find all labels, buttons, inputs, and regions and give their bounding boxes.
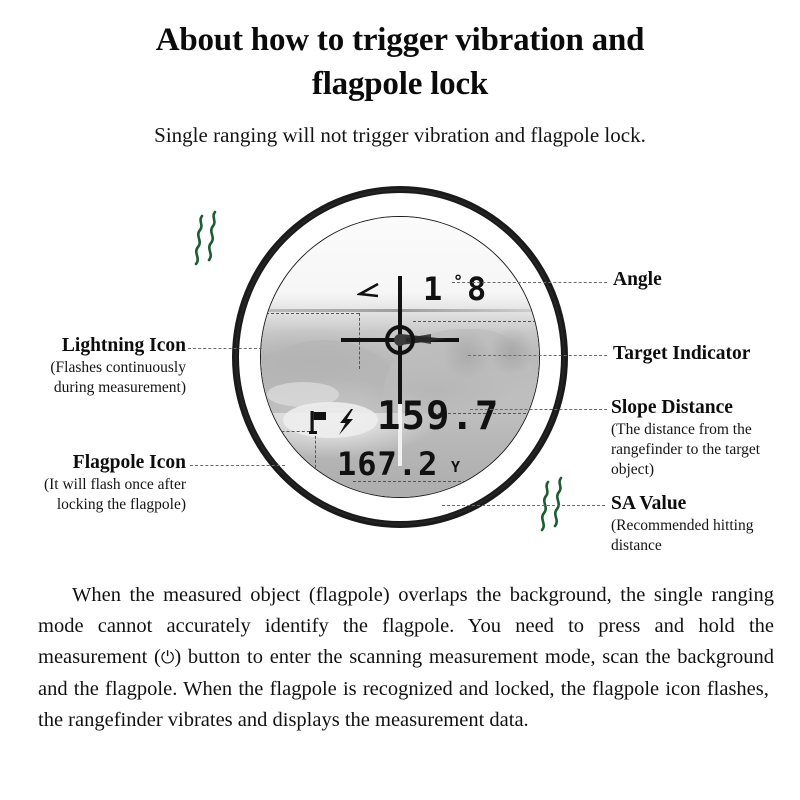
- callout-angle: Angle: [613, 268, 798, 292]
- sa-value-unit: Y: [451, 458, 460, 476]
- leader-line-lightning: [188, 348, 262, 349]
- callout-angle-title: Angle: [613, 268, 798, 292]
- crosshair-center-dot: [394, 334, 406, 346]
- angle-value-tail: 8: [467, 270, 487, 308]
- callout-target-indicator: Target Indicator: [613, 342, 798, 366]
- callout-slope-distance: Slope Distance (The distance from the ra…: [611, 396, 800, 480]
- leader-line-sa-value: [442, 505, 605, 506]
- page-title-line-2: flagpole lock: [0, 62, 800, 106]
- callout-sa-value-sub-1: (Recommended hitting: [611, 516, 800, 536]
- callout-sa-value-sub-2: distance: [611, 536, 800, 556]
- callout-lightning-sub-2: during measurement): [0, 378, 186, 398]
- page-subtitle: Single ranging will not trigger vibratio…: [0, 123, 800, 148]
- callout-sa-value: SA Value (Recommended hitting distance: [611, 492, 800, 556]
- leader-line-target-indicator: [468, 355, 607, 356]
- vibration-waves-upper-left: [182, 208, 244, 270]
- angle-readout: 1 ° 8: [357, 273, 537, 307]
- flagpole-icon: [309, 410, 331, 434]
- callout-lightning-icon: Lightning Icon (Flashes continuously dur…: [0, 334, 186, 398]
- leader-line-flagpole: [190, 465, 285, 466]
- callout-slope-distance-title: Slope Distance: [611, 396, 800, 420]
- target-indicator-crosshair-icon: [341, 310, 459, 370]
- power-button-icon: ⏻: [161, 648, 174, 668]
- callout-flagpole-title: Flagpole Icon: [0, 451, 186, 475]
- leader-line-angle: [452, 282, 607, 283]
- viewfinder-lens: 1 ° 8 159.7 167.2 Y: [260, 216, 540, 498]
- sa-value-readout: 167.2 Y: [337, 445, 540, 481]
- lightning-bolt-icon: [337, 409, 355, 435]
- callout-slope-distance-sub-2: rangefinder to the target: [611, 440, 800, 460]
- callout-sa-value-title: SA Value: [611, 492, 800, 516]
- slope-distance-value: 159.7: [377, 394, 499, 439]
- sa-value-number: 167.2: [337, 445, 438, 483]
- callout-flagpole-sub-1: (It will flash once after: [0, 475, 186, 495]
- angle-value: 1: [423, 270, 443, 308]
- callout-target-indicator-title: Target Indicator: [613, 342, 798, 366]
- body-paragraph: When the measured object (flagpole) over…: [38, 580, 774, 736]
- callout-lightning-title: Lightning Icon: [0, 334, 186, 358]
- callout-box-flag-bottom: [261, 431, 315, 432]
- callout-flagpole-sub-2: locking the flagpole): [0, 495, 186, 515]
- callout-lightning-sub-1: (Flashes continuously: [0, 358, 186, 378]
- page-title-line-1: About how to trigger vibration and: [0, 18, 800, 62]
- leader-line-slope-distance: [470, 409, 607, 410]
- callout-slope-distance-sub-1: (The distance from the: [611, 420, 800, 440]
- rangefinder-viewfinder: 1 ° 8 159.7 167.2 Y: [232, 186, 568, 528]
- angle-icon: [357, 283, 379, 299]
- callout-flagpole-icon: Flagpole Icon (It will flash once after …: [0, 451, 186, 515]
- callout-slope-distance-sub-3: object): [611, 460, 800, 480]
- page-header: About how to trigger vibration and flagp…: [0, 18, 800, 106]
